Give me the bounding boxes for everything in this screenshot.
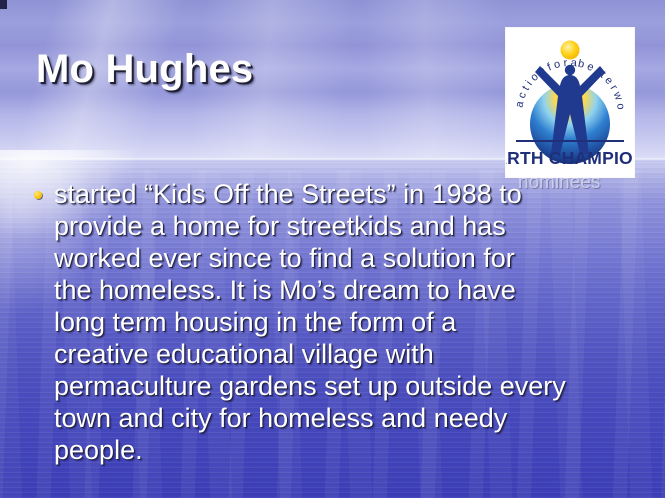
logo-sun-icon (561, 41, 580, 60)
body-line: people. (54, 434, 634, 466)
body-line: permaculture gardens set up outside ever… (54, 370, 634, 402)
body-line: town and city for homeless and needy (54, 402, 634, 434)
body-line: provide a home for streetkids and has (54, 210, 634, 242)
body-line: creative educational village with (54, 338, 634, 370)
earth-champions-logo: a c t i o n f o r a b e t t e r w o r l … (506, 28, 634, 177)
body-line: the homeless. It is Mo’s dream to have (54, 274, 634, 306)
bullet-list-item: started “Kids Off the Streets” in 1988 t… (34, 178, 634, 466)
body-line: started “Kids Off the Streets” in 1988 t… (54, 178, 634, 210)
body-line: long term housing in the form of a (54, 306, 634, 338)
body-line: worked ever since to find a solution for (54, 242, 634, 274)
logo-wordmark: EARTH CHAMPIONS (506, 148, 634, 168)
slide-body: started “Kids Off the Streets” in 1988 t… (34, 178, 634, 466)
logo-divider (516, 140, 624, 142)
bullet-item-text: started “Kids Off the Streets” in 1988 t… (54, 178, 634, 466)
presentation-slide: Mo Hughes started “Kids Off the Streets”… (0, 0, 665, 498)
corner-notch (0, 0, 7, 9)
bullet-dot-icon (34, 191, 42, 199)
slide-title: Mo Hughes (36, 47, 253, 92)
